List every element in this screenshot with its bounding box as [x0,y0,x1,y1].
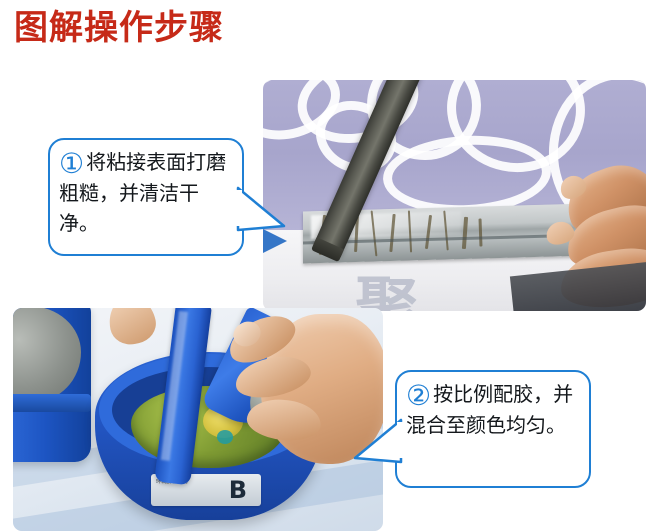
page-title: 图解操作步骤 [14,6,224,50]
jar-label-letter: B [229,476,247,504]
step-number-2: ② [406,382,431,410]
sanding-scratch [479,218,483,246]
callout-step-1: ①将粘接表面打磨粗糙，并清洁干净。 [48,138,244,256]
sanding-scratch [462,217,468,249]
step1-photo: 聚 [263,80,646,311]
adhesive-jar-secondary [13,308,91,462]
callout-step-2-tail [351,418,403,466]
printed-sheet-character: 聚 [355,276,425,311]
teal-adhesive-spot [217,430,233,444]
grey-paste-component-a [13,308,81,402]
callout-step-2: ②按比例配胶，并混合至颜色均匀。 [395,370,591,488]
step-number-1: ① [59,150,84,178]
callout-step-2-text: ②按比例配胶，并混合至颜色均匀。 [406,379,582,440]
callout-step-1-tail [236,186,288,234]
jar-rim [13,394,91,412]
callout-step-1-text: ①将粘接表面打磨粗糙，并清洁干净。 [59,147,235,238]
step2-photo: 环氧胶 粘接剂 B [13,308,383,531]
